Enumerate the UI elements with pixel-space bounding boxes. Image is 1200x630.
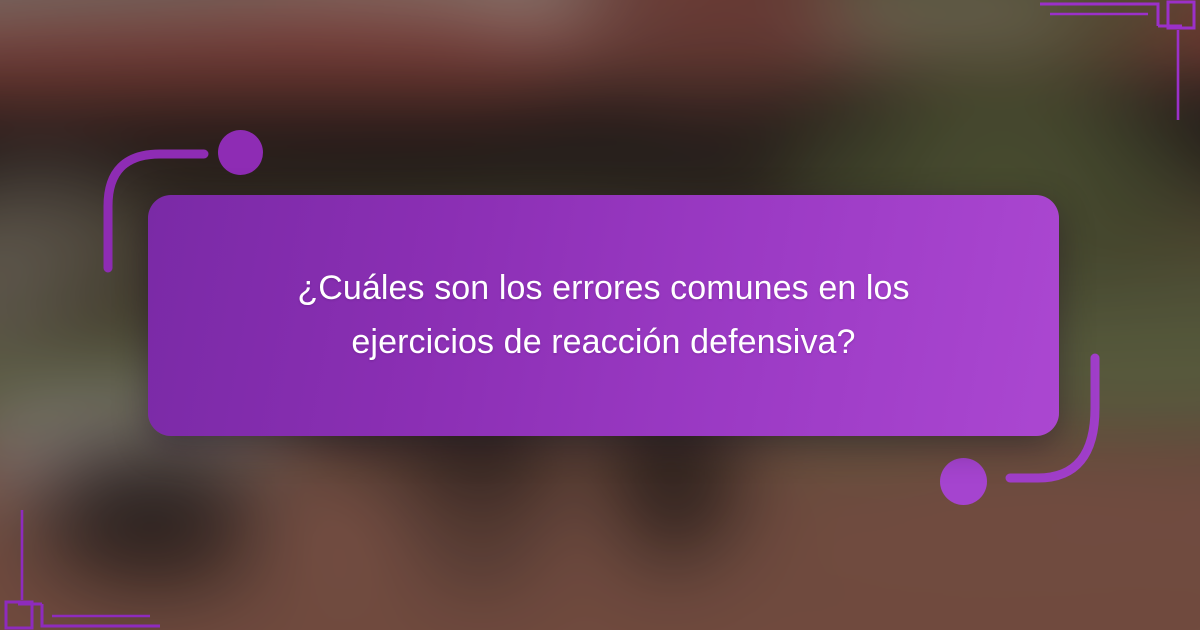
question-card: ¿Cuáles son los errores comunes en los e… (148, 195, 1059, 436)
circuit-corner-icon (1040, 0, 1200, 120)
social-card-banner: ¿Cuáles son los errores comunes en los e… (0, 0, 1200, 630)
card-title: ¿Cuáles son los errores comunes en los e… (254, 262, 954, 368)
accent-dot (940, 458, 987, 505)
circuit-corner-icon (0, 510, 160, 630)
accent-dot (218, 130, 263, 175)
